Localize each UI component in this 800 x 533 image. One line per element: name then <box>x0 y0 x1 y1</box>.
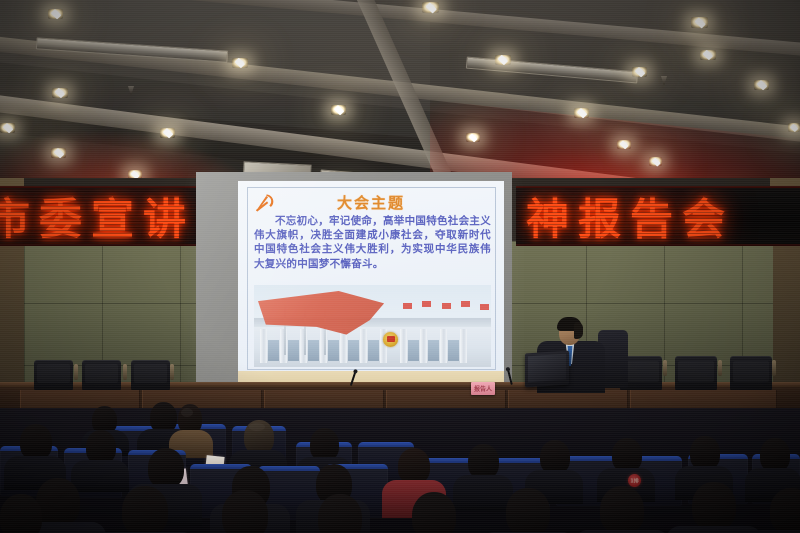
ceiling-light <box>632 67 647 77</box>
conference-hall-photo: 市委宣讲 神报告会 大会主题 不忘初心，牢记使命，高举中国特色社会主义伟大旗帜，… <box>0 0 800 533</box>
ceiling-light <box>754 80 769 90</box>
led-banner-left: 市委宣讲 <box>0 186 199 246</box>
stage-chair <box>730 356 772 390</box>
small-flag <box>403 303 412 309</box>
ceiling-light <box>617 140 631 149</box>
speaker-hair-side <box>574 322 583 339</box>
speaker-laptop <box>525 350 569 387</box>
stage-chair <box>34 360 73 390</box>
led-banner-right: 神报告会 <box>516 186 800 246</box>
ceiling-light <box>495 55 511 65</box>
small-flag <box>442 303 451 309</box>
ceiling-light <box>48 9 63 19</box>
ceiling-light <box>788 123 800 132</box>
ceiling-light <box>574 108 589 118</box>
ceiling-light <box>466 133 480 142</box>
ceiling-light <box>52 88 68 98</box>
ceiling <box>0 0 800 200</box>
ceiling-light <box>691 17 708 28</box>
ceiling-light <box>331 105 346 115</box>
slide-title: 大会主题 <box>238 192 504 213</box>
presentation-slide: 大会主题 不忘初心，牢记使命，高举中国特色社会主义伟大旗帜，决胜全面建成小康社会… <box>238 181 504 394</box>
ceiling-light <box>422 2 439 13</box>
led-banner-left-text: 市委宣讲 <box>0 186 195 246</box>
slide-body-text: 不忘初心，牢记使命，高举中国特色社会主义伟大旗帜，决胜全面建成小康社会，夺取新时… <box>254 214 491 271</box>
ceiling-light <box>0 123 15 133</box>
ceiling-light <box>51 148 66 158</box>
small-flag <box>461 301 470 307</box>
stage-chair <box>131 360 170 390</box>
ceiling-light <box>700 50 716 60</box>
projection-screen: 大会主题 不忘初心，牢记使命，高举中国特色社会主义伟大旗帜，决胜全面建成小康社会… <box>196 172 512 400</box>
slide-photo-great-hall <box>254 285 491 367</box>
stage-chair <box>675 356 717 390</box>
speaker-name-card: 报告人 <box>471 382 495 395</box>
small-flag <box>480 304 489 310</box>
national-emblem-icon <box>383 332 398 347</box>
ceiling-light <box>649 157 662 166</box>
speaker-name-card-text: 报告人 <box>471 384 495 393</box>
ceiling-light <box>160 128 175 138</box>
stage-chair <box>82 360 121 390</box>
seat-number-badge: 1排 <box>628 474 641 487</box>
small-flag <box>422 301 431 307</box>
audience-seating: 1排 3排 <box>0 408 800 533</box>
ceiling-light <box>232 58 248 68</box>
led-banner-right-text: 神报告会 <box>526 186 734 246</box>
